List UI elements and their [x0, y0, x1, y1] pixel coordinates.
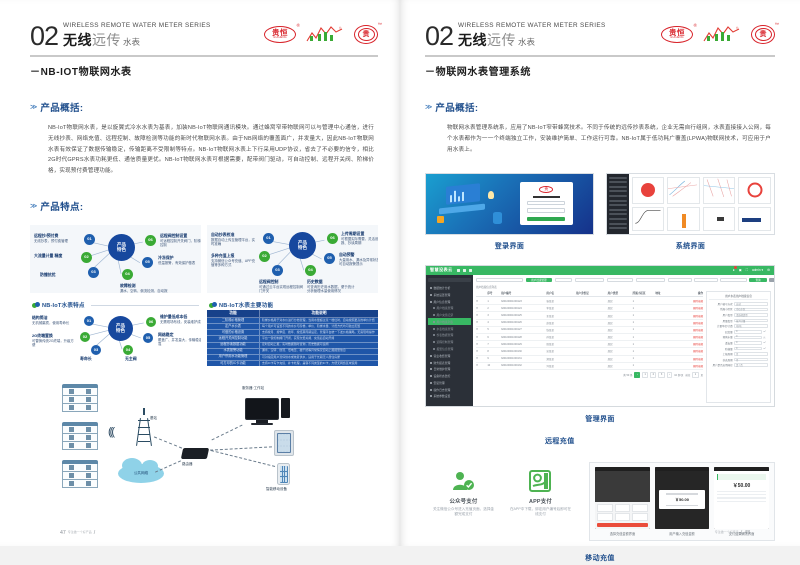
dual-dot-icon [32, 302, 39, 309]
form-label: 阶梯量 [709, 347, 733, 351]
system-sidebar [607, 174, 629, 234]
legend-desc: 漏水、空转、倒流检测，自动报警 [120, 289, 167, 293]
right-page-title: －物联网水表管理系统 [425, 63, 775, 78]
sidebar-item-label: 数据统计分析 [434, 286, 451, 290]
message-icon[interactable]: ▣ [739, 268, 742, 272]
sidebar-item-16[interactable]: 系统参数设置 [428, 393, 471, 400]
building-2 [62, 422, 98, 450]
hub-legend-3: 远程阀控制 可通过云平台实现远程控制阀门开关 [259, 279, 305, 293]
table-row: 可打印的IC卡功能 支持IC卡写卡充值、补卡处理，兼容不同类型的IC卡，方便无网… [207, 361, 378, 366]
cell-actions[interactable]: 删除编辑 [674, 299, 704, 303]
cell-name: 郑某某 [546, 357, 576, 361]
fn-desc: 漏水、空转、倒流、低电压、磁干扰等异常情况自动上报报警信息 [260, 349, 378, 354]
th-code: 用户编号 [501, 291, 546, 295]
legend-desc: 可通过云平台实现远程控制阀门开关 [259, 285, 303, 293]
form-label: 用户类型 [709, 313, 733, 317]
fullscreen-icon[interactable]: ⛶ [746, 268, 748, 272]
cell-code: 320100001000130 [501, 350, 546, 353]
filter-select-2[interactable] [668, 278, 692, 283]
legend-title: 防撞抗扰 [40, 272, 84, 277]
left-overview-text: NB-IoT物联网水表，是以旋翼式冷水水表为基表，加装NB-IoT物联网通讯模块… [30, 123, 378, 177]
form-row: 抄表周期 月 [709, 358, 768, 362]
brand-logos: 贵恒 GUIHENG ® ® [661, 24, 775, 44]
table-row[interactable]: ☐ 8 320100001000130 吴某某 居民 1 删除编辑 [476, 348, 703, 355]
dashboard-toolbar: 用户档案管理 查询 重置 新增用户档案 [476, 278, 771, 283]
cell-name: 孙某某 [546, 335, 576, 339]
legend-desc: 数据自动上传至管理平台，实时准确 [211, 238, 255, 247]
form-row: 预购水量 0 元 [709, 335, 768, 339]
masthead-rule [30, 55, 378, 57]
circle-cn-text: 贵 [755, 28, 772, 41]
hub-legend-2: 大流量计量 精度 [34, 253, 78, 259]
filter-select-4[interactable] [720, 278, 747, 283]
login-form-card: 贵 [520, 182, 573, 225]
pager-size[interactable]: 10 条/页 [674, 373, 683, 377]
filter-input-3[interactable] [607, 278, 634, 283]
trademark-mark: ™ [775, 22, 780, 27]
pager-next[interactable]: › [667, 372, 673, 378]
form-unit: m³ [763, 342, 768, 344]
payment-method-name: APP支付 [505, 497, 576, 505]
tower-label: 基站 [150, 416, 157, 421]
table-row[interactable]: ☐ 5 320100001000127 钱某某 居民 1 删除编辑 [476, 327, 703, 334]
feature-panel-1: 产品特色 01 02 03 04 05 06 远程抄/预付费 无线抄表，预付费管… [30, 225, 201, 293]
remote-recharge-heading-wrap: 远程充值 [425, 430, 775, 448]
th-area: 所属小区区 [633, 291, 656, 295]
amount-value: ￥50.00 [675, 497, 689, 503]
right-overview-text: 物联网水表管理系统系，应用了NB-IoT窄带蜂窝技术。不同于传统的远传抄表系统，… [425, 123, 775, 157]
sidebar-item-11[interactable]: 财务报表管理 [428, 359, 471, 366]
hub-node-05: 05 [324, 253, 335, 264]
legend-desc: 支持微信公众号充值、APP充值等多种方式 [211, 259, 255, 268]
cell-area: 1 [633, 307, 656, 310]
cell-index: 9 [487, 357, 501, 360]
form-row: 用户类型 请选择类型 [709, 313, 768, 317]
sidebar-item-label: 营业收费管理 [434, 354, 451, 358]
hub-legend-4: 故障检测 漏水、空转、倒流检测，自动报警 [120, 283, 170, 293]
cell-actions[interactable]: 删除编辑 [674, 321, 704, 325]
chevron-double-right-icon: ≫ [30, 103, 36, 111]
row-checkbox[interactable]: ☐ [476, 350, 487, 353]
form-value[interactable]: 0 [734, 330, 762, 334]
sidebar-item-4[interactable]: 用户充值记录 [428, 312, 471, 319]
cell-index: 4 [487, 321, 501, 324]
sidebar-item-label: 操作日志管理 [434, 388, 451, 392]
cell-name: 钱某某 [546, 328, 576, 332]
legend-title: 自动抄表校准 [211, 232, 257, 237]
form-value[interactable]: 请选择类型 [734, 313, 768, 317]
cell-type: 居民 [608, 349, 633, 353]
form-value[interactable]: 0 [734, 341, 762, 345]
right-page: 02 WIRELESS REMOTE WATER METER SERIES 无线… [400, 0, 800, 546]
dashboard-caption: 管理界面 [425, 414, 775, 424]
row-checkbox[interactable]: ☐ [476, 364, 487, 367]
sidebar-item-label: 安装管理 [434, 381, 445, 385]
page-footer-text: 专注做一个好产品 [715, 531, 739, 534]
dashboard-body: 数据统计分析 系统设置管理 用户信息管理 用户档案管理 用户充值记录 用户档案列… [426, 275, 774, 406]
sidebar-item-13[interactable]: 设备状态监控 [428, 373, 471, 380]
fn-desc: 每个用户可设置不同的水价与阶梯，单价、阶梯水量、计费方式均可独立配置 [260, 324, 378, 329]
panel-3-title-bar: NB-IoT水表特点 [30, 298, 201, 310]
form-value[interactable]: 按月计量 [734, 319, 768, 323]
cell-area: 1 [633, 357, 656, 360]
dashboard-main: 用户档案管理 查询 重置 新增用户档案 用户档案信息列表 [473, 275, 774, 406]
screenshots-row: 贵 登录界面 [425, 173, 775, 251]
system-screen-image [606, 173, 775, 235]
masthead-cn-bold: 无线 [63, 30, 92, 50]
phone-caption-1: 用户输入充值金额 [655, 531, 710, 536]
hub-node-01: 01 [263, 233, 274, 244]
form-row: 上报周期 月 [709, 352, 768, 356]
cell-code: 320100001000131 [501, 357, 546, 360]
hub-legend-6: 维护量低成本低 无需现场布线，安装维护成本低 [160, 314, 201, 324]
cell-actions[interactable]: 删除编辑 [674, 349, 704, 353]
dashboard-brand: 智慧没表云 [430, 267, 452, 273]
hub-center: 产品特色 [108, 316, 133, 341]
wechat-official-account-icon [428, 468, 499, 494]
table-row[interactable]: ☐ 1 320100001000123 张某某 居民 1 删除编辑 [476, 298, 703, 305]
payment-method-desc: 在APP中下载，绑定用户编号后即可在线支付 [505, 507, 576, 518]
fn-desc: 支持按月、按季度、按年、按结算周期设定，管理平台统一下发价格策略，无需现场操作 [260, 330, 378, 335]
pager-jump: 前往 [685, 373, 690, 377]
row-checkbox[interactable]: ☐ [476, 314, 487, 317]
remote-recharge-caption: 远程充值 [545, 438, 575, 445]
chevron-double-right-icon: ≫ [30, 202, 36, 210]
guiheng-circle-logo: 贵 ™ [354, 25, 378, 44]
map-widget-1 [667, 177, 700, 204]
feature-panel-4: NB-IoT水表主要功能 功能 功能说明 二阶梯价格管理 阶梯价格用于对水价进行… [207, 298, 378, 366]
cell-actions[interactable]: 删除编辑 [674, 335, 704, 339]
cell-area: 1 [633, 343, 656, 346]
guiheng-circle-logo: 贵 ™ [751, 25, 775, 44]
th-actions: 操作 [674, 291, 704, 295]
form-title: 用户水表用户档案信息 [709, 294, 768, 300]
form-value[interactable]: 中心小区 [734, 308, 768, 312]
cloud-label: 公共网络 [134, 471, 148, 476]
filter-input-1[interactable] [476, 278, 523, 283]
form-row: 用户编号方式 自动 [709, 302, 768, 306]
cell-area: 1 [633, 314, 656, 317]
form-label: 上报周期 [709, 352, 733, 356]
fn-desc: 可对指定用户暂停供水或恢复供水，适用于长期无人居住房屋 [260, 355, 378, 360]
fn-name: 定户水价表 [207, 324, 260, 329]
cell-index: 6 [487, 336, 501, 339]
table-note: 用户档案信息列表 [476, 285, 771, 289]
form-value[interactable]: 0 [734, 336, 762, 340]
masthead-cn-bold: 无线 [458, 30, 487, 50]
form-value[interactable]: 自动 [734, 302, 768, 306]
fn-name: 远程抄读数据功能 [207, 343, 260, 348]
cell-name: 王某某 [546, 314, 576, 318]
query-button[interactable]: 查询 [749, 278, 767, 283]
legend-title: 无主阀 [125, 356, 169, 361]
left-page-title: －NB-IOT物联网水表 [30, 63, 378, 78]
pager-page-2[interactable]: 2 [650, 372, 656, 378]
sidebar-search-input[interactable] [428, 278, 471, 282]
trademark-mark: ™ [378, 22, 383, 27]
confirm-button[interactable] [597, 523, 648, 527]
sidebar-item-label: 系统参数设置 [434, 394, 451, 398]
form-value[interactable]: 月 [734, 352, 768, 356]
table-pagination: 共 50 条 ‹ 1 2 3 › 10 条/页 前往 1 页 [476, 372, 703, 378]
login-illustration [433, 181, 506, 227]
hub-legend-1: 自动抄表校准 数据自动上传至管理平台，实时准确 [211, 232, 257, 247]
topbar-icons[interactable] [457, 269, 472, 272]
hub-node-05: 05 [142, 257, 153, 268]
cell-code: 320100001000126 [501, 321, 546, 324]
filter-select-1[interactable] [555, 278, 573, 283]
form-row: 用量类型 按月计量 [709, 319, 768, 323]
form-row: 起度量 0 m³ [709, 330, 768, 334]
result-banner [717, 474, 766, 480]
sidebar-menu: 数据统计分析 系统设置管理 用户信息管理 用户档案管理 用户充值记录 用户档案列… [428, 285, 471, 400]
sidebar-item-label: 财务报表管理 [434, 361, 451, 365]
hub-node-04: 04 [305, 265, 316, 276]
sidebar-item-label: 用户档案列表 [437, 320, 454, 324]
legend-title: 大流量计量 精度 [34, 253, 78, 258]
form-unit: m³ [763, 331, 768, 333]
sidebar-item-2[interactable]: 用户信息管理 [428, 298, 471, 305]
row-checkbox[interactable]: ☐ [476, 300, 487, 303]
th-address: 地址 [655, 291, 673, 295]
sidebar-item-15[interactable]: 操作日志管理 [428, 386, 471, 393]
sidebar-item-label: 日常维护管理 [434, 367, 451, 371]
cell-actions[interactable]: 删除编辑 [674, 364, 704, 368]
hub-legend-2: 多种充值上报 支持微信公众号充值、APP充值等多种方式 [211, 253, 257, 268]
catalog-spread: 02 WIRELESS REMOTE WATER METER SERIES 无线… [0, 0, 800, 546]
right-section-overview-heading: ≫ 产品概括: [425, 100, 775, 114]
hub-node-03: 03 [91, 345, 101, 355]
cell-actions[interactable]: 删除编辑 [674, 314, 704, 318]
password-field[interactable] [527, 208, 565, 213]
line-chart-widget [632, 207, 665, 231]
form-label: 用户编号方式 [709, 302, 733, 306]
payment-method-1: APP支付 在APP中下载，绑定用户编号后即可在线支付 [505, 468, 576, 518]
filter-input-4[interactable] [636, 278, 666, 283]
form-value[interactable]: 是 / 否 [734, 363, 768, 367]
row-checkbox[interactable]: ☐ [476, 307, 487, 310]
row-checkbox[interactable]: ☐ [476, 343, 487, 346]
legend-title: 维护量低成本低 [160, 314, 201, 319]
table-header-row: 序号 用户编号 用户名 用户身份证 用户类型 所属小区区 地址 操作 [476, 291, 703, 297]
legend-title: 网络稳定 [158, 332, 201, 337]
hub-legend-5: 冷冻保护 低温报警，有效保护基表 [158, 255, 201, 265]
legend-title: 寿命长 [80, 356, 122, 361]
form-row: 计量单位/计费 吨/吨 [709, 324, 768, 328]
router-label: 路由器 [182, 462, 193, 467]
masthead-cn-gray: 远传 [92, 30, 121, 50]
cell-area: 1 [633, 328, 656, 331]
legend-title: 故障检测 [120, 283, 170, 288]
table-row[interactable]: ☐ 6 320100001000128 孙某某 居民 1 删除编辑 [476, 334, 703, 341]
pager-page-1[interactable]: 1 [642, 372, 648, 378]
table-row[interactable]: ☐ 4 320100001000126 赵某某 居民 1 删除编辑 [476, 320, 703, 327]
table-row[interactable]: ☐ 7 320100001000129 周某某 居民 1 删除编辑 [476, 341, 703, 348]
form-row: 阶梯量 0 m³ [709, 347, 768, 351]
username-field[interactable] [527, 201, 565, 206]
form-row: 用户是否启用阀控 是 / 否 [709, 363, 768, 367]
sidebar-item-14[interactable]: 安装管理 [428, 380, 471, 387]
row-checkbox[interactable]: ☐ [476, 357, 487, 360]
form-label: 预购水量 [709, 335, 733, 339]
sidebar-item-12[interactable]: 日常维护管理 [428, 366, 471, 373]
hub-node-03: 03 [88, 267, 99, 278]
cell-code: 320100001000125 [501, 314, 546, 317]
cell-code: 320100001000123 [501, 300, 546, 303]
page-footer-text: 专注做一个好产品 [68, 531, 92, 534]
pager-page-3[interactable]: 3 [658, 372, 664, 378]
cell-area: 1 [633, 300, 656, 303]
dual-dot-icon [209, 302, 216, 309]
sidebar-item-9[interactable]: 报警信息管理 [428, 346, 471, 353]
payment-method-desc: 关注微信公众号进入充值页面，选择金额完成支付 [428, 507, 499, 518]
sidebar-item-3[interactable]: 用户档案管理 [428, 305, 471, 312]
cell-index: 5 [487, 328, 501, 331]
hub-legend-1: 结构简洁 无机械磨损，使用寿命长 [32, 315, 76, 325]
cell-index: 1 [487, 300, 501, 303]
server-label: 服务器·工作站 [242, 386, 264, 391]
table-row[interactable]: ☐ 10 320100001000132 冯某某 居民 1 删除编辑 [476, 363, 703, 370]
form-row: 透支量 0 m³ [709, 341, 768, 345]
table-row[interactable]: ☐ 2 320100001000124 李某某 居民 1 删除编辑 [476, 305, 703, 312]
cell-code: 320100001000124 [501, 307, 546, 310]
reset-button[interactable]: 重置 [769, 278, 775, 283]
server-workstation [245, 398, 279, 425]
form-value[interactable]: 0 [734, 347, 762, 351]
form-unit: m³ [763, 348, 768, 350]
legend-title: 历史数据 [307, 279, 355, 284]
legend-title: 远程阀控制设置 [160, 233, 201, 238]
legend-desc: 可远程控制开关阀门，阶梯价格控制 [160, 239, 201, 248]
seal-en-text: GUIHENG [273, 36, 287, 39]
filter-input-2[interactable] [575, 278, 605, 283]
cell-name: 周某某 [546, 342, 576, 346]
legend-title: 多种充值上报 [211, 253, 257, 258]
left-section-overview-heading: ≫ 产品概括: [30, 100, 378, 114]
login-button[interactable] [527, 217, 565, 221]
cell-index: 8 [487, 350, 501, 353]
pager-prev[interactable]: ‹ [634, 372, 640, 378]
legend-desc: 大量用水、漏水及异常状态均可自动报警提示 [339, 258, 378, 267]
dashboard-content: 序号 用户编号 用户名 用户身份证 用户类型 所属小区区 地址 操作 [476, 291, 771, 403]
masthead-number: 02 [425, 24, 453, 50]
sidebar-item-7[interactable]: 抄表数据管理 [428, 332, 471, 339]
cell-index: 7 [487, 343, 501, 346]
topbar-right[interactable]: ● ▣ ⛶ admin ▾ ⚙ [733, 268, 770, 272]
row-checkbox[interactable]: ☐ [476, 336, 487, 339]
login-screenshot-block: 贵 登录界面 [425, 173, 594, 251]
hub-legend-6: 远程阀控制设置 可远程控制开关阀门，阶梯价格控制 [160, 233, 201, 248]
sidebar-item-6[interactable]: 水表档案管理 [428, 325, 471, 332]
fn-name: 二阶梯价格管理 [207, 318, 260, 323]
form-value[interactable]: 吨/吨 [734, 324, 768, 328]
legend-title: 结构简洁 [32, 315, 76, 320]
sidebar-item-1[interactable]: 系统设置管理 [428, 291, 471, 298]
hub-diagram: 产品特色 01 02 03 04 05 06 远程抄/预付费 无线抄表，预付费管… [30, 225, 201, 293]
filter-select-3[interactable] [694, 278, 718, 283]
sidebar-item-label: 水表档案管理 [437, 327, 454, 331]
legend-title: 远程阀控制 [259, 279, 305, 284]
seal-en-text: GUIHENG [670, 36, 684, 39]
table-row[interactable]: ☐ 3 320100001000125 王某某 居民 1 删除编辑 [476, 312, 703, 319]
mobile-recharge-caption: 移动充值 [585, 555, 615, 562]
gauge-widget [632, 177, 665, 204]
cell-name: 李某某 [546, 306, 576, 310]
table-row[interactable]: ☐ 9 320100001000131 郑某某 居民 1 删除编辑 [476, 356, 703, 363]
masthead-english: WIRELESS REMOTE WATER METER SERIES [63, 22, 211, 29]
cell-name: 冯某某 [546, 364, 576, 368]
title-rule [91, 305, 199, 306]
user-menu[interactable]: admin ▾ [752, 268, 763, 272]
row-checkbox[interactable]: ☐ [476, 328, 487, 331]
left-section-features-heading: ≫ 产品特点: [30, 199, 378, 213]
masthead-number: 02 [30, 24, 58, 50]
page-number-value: 48 [744, 530, 750, 536]
registered-mark: ® [297, 23, 300, 28]
left-masthead: 02 WIRELESS REMOTE WATER METER SERIES 无线… [30, 0, 378, 52]
hub-node-05: 05 [143, 333, 153, 343]
fn-name: 远程开关阀控制功能 [207, 336, 260, 341]
fn-name: 可做的价格设置 [207, 330, 260, 335]
masthead-cn-gray: 远传 [487, 30, 516, 50]
right-page-number: 专注做一个好产品 / 48 [715, 530, 750, 536]
cell-actions[interactable]: 删除编辑 [674, 342, 704, 346]
wireless-signal-icon: ((( [108, 426, 113, 438]
sidebar-item-10[interactable]: 营业收费管理 [428, 352, 471, 359]
cell-actions[interactable]: 删除编辑 [674, 328, 704, 332]
wave-chart-logo: ® [305, 24, 345, 44]
legend-desc: 无机械磨损，使用寿命长 [32, 321, 69, 325]
sidebar-item-0[interactable]: 数据统计分析 [428, 285, 471, 292]
result-amount: ￥50.00 [717, 482, 766, 489]
settings-gear-icon[interactable]: ⚙ [767, 268, 770, 272]
function-table-header: 功能 功能说明 [207, 310, 378, 318]
cell-type: 居民 [608, 299, 633, 303]
cell-actions[interactable]: 删除编辑 [674, 306, 704, 310]
form-value[interactable]: 月 [734, 358, 768, 362]
legend-desc: 可查询历史用水数据，便于统计分析管理水量使用情况 [307, 285, 354, 293]
cell-actions[interactable]: 删除编辑 [674, 357, 704, 361]
fn-name: 用户停用水功能管理 [207, 355, 260, 360]
cell-type: 居民 [608, 335, 633, 339]
phone-screenshot-0: 选择充值金额界面 [595, 467, 650, 537]
form-label: 透支量 [709, 341, 733, 345]
network-topology-diagram: ((( 基站 公共网络 路由器 [30, 380, 378, 498]
hub-node-04: 04 [122, 269, 133, 280]
legend-title: 自动预警 [339, 252, 378, 257]
pager-jump-input[interactable]: 1 [692, 372, 698, 378]
pager-go: 页 [701, 373, 704, 377]
link-line [212, 425, 243, 441]
phone-screenshot-2: ￥50.00 支付结果确认界面 [714, 467, 769, 537]
table-widget [703, 207, 736, 231]
sidebar-item-label: 用户信息管理 [434, 300, 451, 304]
hub-legend-3: 防撞抗扰 [40, 272, 84, 278]
sidebar-item-8[interactable]: 远程控制管理 [428, 339, 471, 346]
feature-panel-3: NB-IoT水表特点 产品特色 01 [30, 298, 201, 366]
sidebar-item-5[interactable]: 用户档案列表 [428, 318, 471, 325]
hub-legend-5: 自动预警 大量用水、漏水及异常状态均可自动报警提示 [339, 252, 378, 267]
cell-code: 320100001000129 [501, 343, 546, 346]
notification-bell-icon[interactable]: ● [733, 268, 735, 272]
hub-node-02: 02 [259, 251, 270, 262]
filter-dropdown[interactable]: 用户档案管理 [526, 278, 553, 283]
amount-modal: ￥50.00 [659, 490, 706, 509]
legend-title: 上传周期设置 [341, 231, 378, 236]
row-checkbox[interactable]: ☐ [476, 321, 487, 324]
th-function: 功能 [207, 310, 260, 317]
payment-method-name: 公众号支付 [428, 497, 499, 505]
